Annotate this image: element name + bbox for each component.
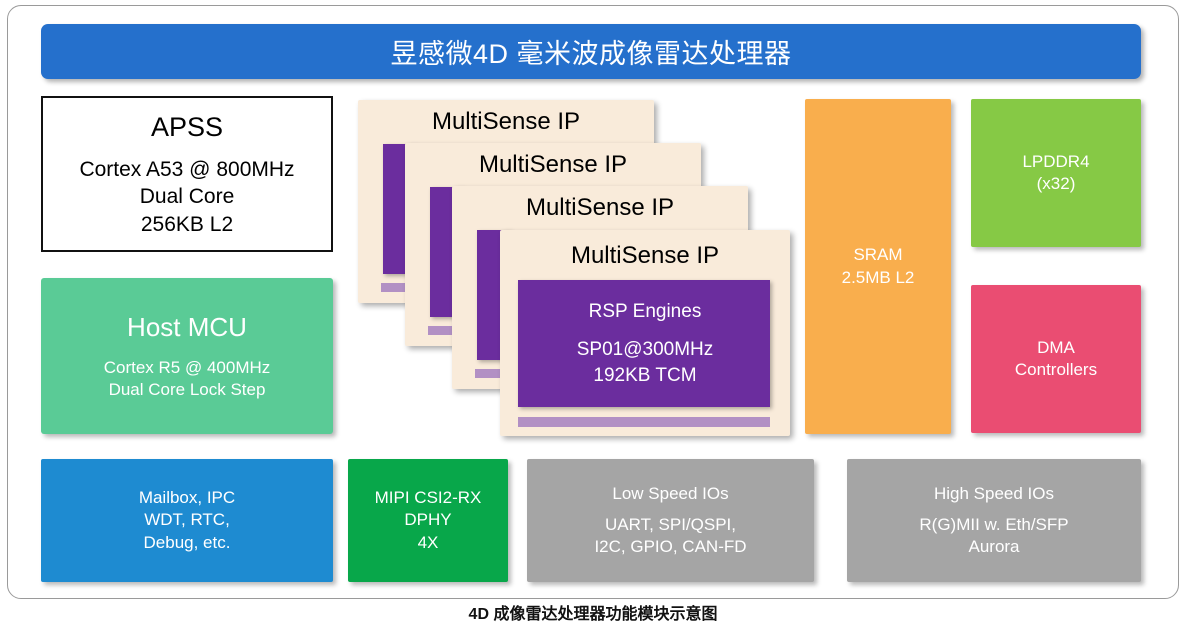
- block-host-mcu: Host MCU Cortex R5 @ 400MHz Dual Core Lo…: [41, 278, 333, 434]
- lpddr4-line-1: LPDDR4: [1022, 151, 1089, 173]
- lpddr4-line-2: (x32): [1037, 173, 1076, 195]
- mailbox-line-1: Mailbox, IPC: [139, 487, 235, 509]
- host-mcu-heading: Host MCU: [127, 311, 247, 345]
- mipi-line-3: 4X: [418, 532, 439, 554]
- high-speed-ios-heading: High Speed IOs: [934, 483, 1054, 505]
- mipi-line-2: DPHY: [404, 509, 451, 531]
- host-mcu-line-2: Dual Core Lock Step: [109, 379, 266, 401]
- mailbox-line-2: WDT, RTC,: [144, 509, 230, 531]
- low-speed-ios-line-1: UART, SPI/QSPI,: [605, 514, 736, 536]
- high-speed-ios-line-1: R(G)MII w. Eth/SFP: [919, 514, 1068, 536]
- apss-heading: APSS: [151, 110, 223, 145]
- rsp-engines-heading: RSP Engines: [589, 299, 702, 324]
- multisense-card-3-title: MultiSense IP: [452, 194, 748, 222]
- rsp-engines-line-2: 192KB TCM: [593, 363, 696, 388]
- block-lpddr4: LPDDR4 (x32): [971, 99, 1141, 247]
- sram-line-2: 2.5MB L2: [842, 267, 915, 289]
- apss-line-2: Dual Core: [140, 183, 235, 210]
- rsp-engines-text: RSP Engines SP01@300MHz 192KB TCM: [500, 280, 790, 407]
- rsp-engines-line-1: SP01@300MHz: [577, 337, 714, 362]
- multisense-card-2-title: MultiSense IP: [405, 151, 701, 179]
- multisense-card-4: MultiSense IP RSP Engines SP01@300MHz 19…: [500, 230, 790, 436]
- apss-line-1: Cortex A53 @ 800MHz: [79, 156, 294, 183]
- apss-line-3: 256KB L2: [141, 211, 233, 238]
- mipi-line-1: MIPI CSI2-RX: [375, 487, 482, 509]
- low-speed-ios-heading: Low Speed IOs: [612, 483, 728, 505]
- sram-line-1: SRAM: [853, 244, 902, 266]
- radar-processor-block-diagram: 昱感微4D 毫米波成像雷达处理器 APSS Cortex A53 @ 800MH…: [0, 0, 1186, 634]
- block-apss: APSS Cortex A53 @ 800MHz Dual Core 256KB…: [41, 96, 333, 252]
- block-low-speed-ios: Low Speed IOs UART, SPI/QSPI, I2C, GPIO,…: [527, 459, 814, 582]
- block-mipi-csi2-rx: MIPI CSI2-RX DPHY 4X: [348, 459, 508, 582]
- diagram-title-banner: 昱感微4D 毫米波成像雷达处理器: [41, 24, 1141, 79]
- diagram-caption: 4D 成像雷达处理器功能模块示意图: [0, 600, 1186, 624]
- multisense-card-4-title: MultiSense IP: [500, 242, 790, 270]
- diagram-title-text: 昱感微4D 毫米波成像雷达处理器: [390, 32, 791, 71]
- high-speed-ios-line-2: Aurora: [968, 536, 1019, 558]
- dma-line-1: DMA: [1037, 337, 1075, 359]
- multisense-card-1-title: MultiSense IP: [358, 108, 654, 136]
- host-mcu-line-1: Cortex R5 @ 400MHz: [104, 357, 271, 379]
- block-sram: SRAM 2.5MB L2: [805, 99, 951, 434]
- multisense-card-4-bus-bar: [518, 417, 770, 427]
- block-high-speed-ios: High Speed IOs R(G)MII w. Eth/SFP Aurora: [847, 459, 1141, 582]
- dma-line-2: Controllers: [1015, 359, 1097, 381]
- block-dma-controllers: DMA Controllers: [971, 285, 1141, 433]
- block-mailbox-ipc: Mailbox, IPC WDT, RTC, Debug, etc.: [41, 459, 333, 582]
- low-speed-ios-line-2: I2C, GPIO, CAN-FD: [594, 536, 746, 558]
- mailbox-line-3: Debug, etc.: [144, 532, 231, 554]
